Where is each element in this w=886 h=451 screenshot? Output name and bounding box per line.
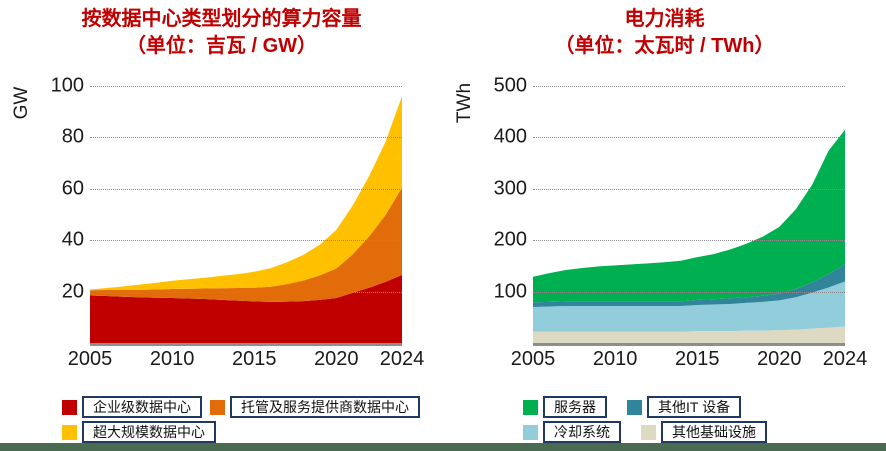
gridline [533,292,845,293]
x-tick-label: 2020 [757,348,802,371]
legend-label: 其他基础设施 [661,421,767,443]
y-tick-label: 100 [475,280,527,303]
legend-row: 企业级数据中心托管及服务提供商数据中心 [62,396,420,418]
legend-item[interactable]: 其他基础设施 [641,421,767,443]
right-plot-area [533,86,845,343]
legend-label: 其他IT 设备 [647,396,741,418]
right-chart-title: 电力消耗 （单位：太瓦时 / TWh） [443,6,886,60]
gridline [90,86,402,87]
y-tick-label: 200 [475,229,527,252]
right-area-chart-svg [533,86,845,343]
legend-row: 冷却系统其他基础设施 [523,421,767,443]
panel-compute-capacity: 按数据中心类型划分的算力容量 （单位：吉瓦 / GW） GW 204060801… [0,0,443,451]
gridline [533,137,845,138]
legend-item[interactable]: 超大规模数据中心 [62,421,216,443]
left-x-axis-line [90,343,402,346]
gridline [533,86,845,87]
x-tick-label: 2015 [675,348,720,371]
x-tick-label: 2024 [380,348,425,371]
legend-swatch-icon [523,400,538,415]
gridline [90,189,402,190]
legend-swatch-icon [62,425,77,440]
right-x-axis-line [533,343,845,346]
legend-row: 服务器其他IT 设备 [523,396,767,418]
x-tick-label: 2024 [823,348,868,371]
left-chart-title: 按数据中心类型划分的算力容量 （单位：吉瓦 / GW） [0,6,443,60]
bottom-accent-strip [0,443,886,451]
legend-row: 超大规模数据中心 [62,421,420,443]
legend-label: 冷却系统 [543,421,621,443]
left-plot-area [90,86,402,343]
y-tick-label: 40 [32,229,84,252]
left-y-axis-label: GW [11,75,33,131]
gridline [90,240,402,241]
legend-item[interactable]: 托管及服务提供商数据中心 [210,396,420,418]
legend-swatch-icon [210,400,225,415]
y-tick-label: 100 [32,75,84,98]
legend-label: 企业级数据中心 [82,396,202,418]
x-tick-label: 2010 [150,348,195,371]
legend-item[interactable]: 其他IT 设备 [627,396,741,418]
gridline [533,240,845,241]
legend-item[interactable]: 企业级数据中心 [62,396,202,418]
right-y-tick-group: 100200300400500 [475,86,527,343]
left-y-tick-group: 20406080100 [32,86,84,343]
y-tick-label: 500 [475,75,527,98]
legend-label: 服务器 [543,396,607,418]
y-tick-label: 20 [32,280,84,303]
left-legend: 企业级数据中心托管及服务提供商数据中心超大规模数据中心 [62,396,420,446]
legend-label: 托管及服务提供商数据中心 [230,396,420,418]
x-tick-label: 2015 [232,348,277,371]
gridline [90,292,402,293]
slide-root: 按数据中心类型划分的算力容量 （单位：吉瓦 / GW） GW 204060801… [0,0,886,451]
x-tick-label: 2005 [68,348,113,371]
left-area-chart-svg [90,86,402,343]
y-tick-label: 400 [475,126,527,149]
y-tick-label: 300 [475,177,527,200]
legend-label: 超大规模数据中心 [82,421,216,443]
gridline [90,137,402,138]
right-y-axis-label: TWh [454,75,476,131]
legend-swatch-icon [523,425,538,440]
legend-item[interactable]: 冷却系统 [523,421,621,443]
legend-swatch-icon [641,425,656,440]
legend-swatch-icon [627,400,642,415]
legend-swatch-icon [62,400,77,415]
x-tick-label: 2010 [593,348,638,371]
y-tick-label: 80 [32,126,84,149]
x-tick-label: 2005 [511,348,556,371]
x-tick-label: 2020 [314,348,359,371]
y-tick-label: 60 [32,177,84,200]
legend-item[interactable]: 服务器 [523,396,607,418]
gridline [533,189,845,190]
right-legend: 服务器其他IT 设备冷却系统其他基础设施 [523,396,767,446]
area-series-服务器 [533,130,845,303]
